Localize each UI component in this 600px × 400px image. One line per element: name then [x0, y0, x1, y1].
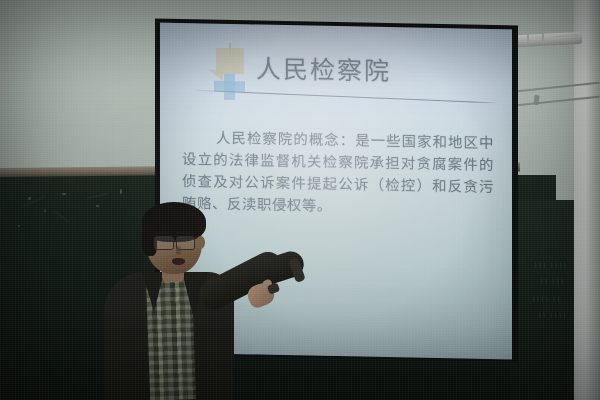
lecturer-nose	[176, 246, 181, 255]
presenter-remote[interactable]	[267, 282, 280, 294]
eyeglasses-left-lens	[154, 236, 174, 250]
lecturer	[96, 200, 296, 400]
lecturer-ear	[196, 236, 205, 249]
screenshot-root: ⌇⌇⌇ ⌇⌇⌇⌇ ⌇⌇ ⌇⌇⌇ ⌇⌇⌇⌇ ⌇⌇ ⌇⌇ ⌇⌇⌇⌇ 人民检察院 人民…	[0, 0, 600, 400]
slide-title: 人民检察院	[256, 49, 391, 88]
wall-corner-strip	[574, 0, 600, 400]
lecturer-mouth	[172, 258, 185, 265]
eyeglasses-bridge	[171, 240, 177, 241]
roller-arm-icon	[527, 28, 544, 43]
